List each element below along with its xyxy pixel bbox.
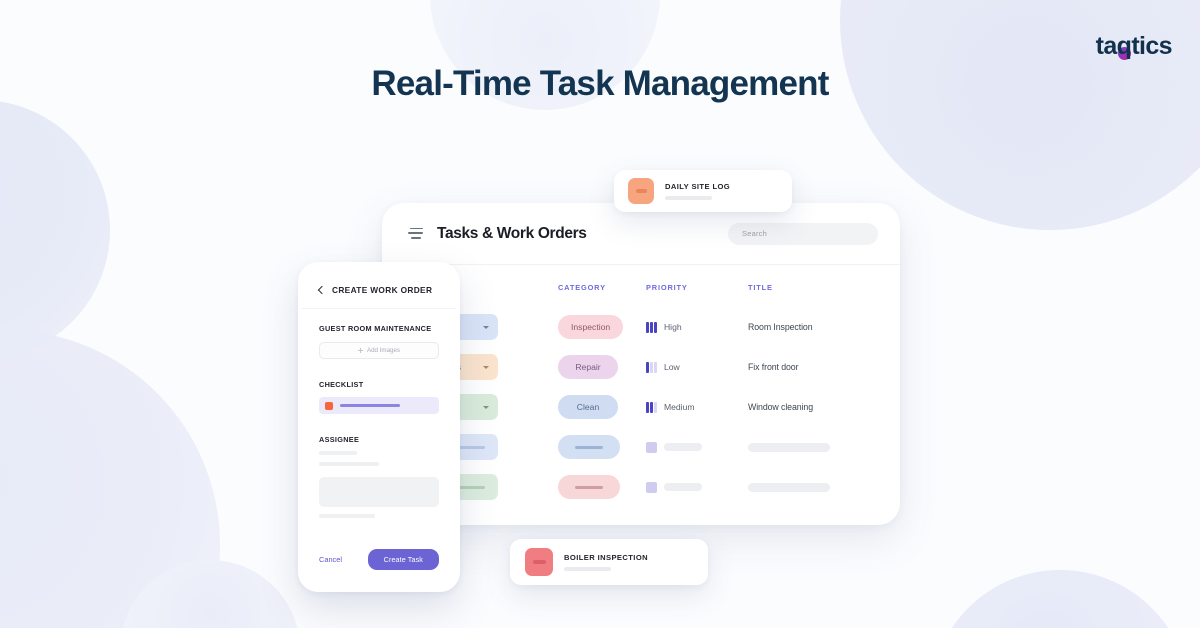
cancel-button[interactable]: Cancel — [319, 555, 342, 564]
assignee-placeholder-line — [319, 462, 379, 466]
category-cell: Repair — [534, 355, 638, 379]
toast-content: BOILER INSPECTION — [564, 553, 648, 571]
search-input[interactable]: Search — [728, 223, 878, 245]
task-title: Room Inspection — [742, 322, 878, 332]
column-header-title: TITLE — [742, 283, 878, 292]
task-title: Window cleaning — [742, 402, 878, 412]
priority-cell-placeholder — [638, 482, 742, 493]
work-order-name-label: GUEST ROOM MAINTENANCE — [319, 324, 439, 333]
logo-prefix: ta — [1096, 32, 1117, 60]
logo-q-letter: q — [1117, 32, 1132, 60]
category-cell: Inspection — [534, 315, 638, 339]
assignee-section: ASSIGNEE — [319, 435, 439, 518]
chevron-down-icon[interactable] — [483, 406, 489, 409]
checklist-square-icon — [325, 402, 333, 410]
chevron-left-icon[interactable] — [318, 286, 326, 294]
search-placeholder: Search — [742, 229, 767, 238]
task-title-placeholder — [742, 483, 878, 492]
priority-label: High — [664, 322, 682, 332]
decorative-circle-top-left — [0, 100, 110, 360]
priority-cell: Low — [638, 362, 742, 373]
task-title: Fix front door — [742, 362, 878, 372]
phone-form: GUEST ROOM MAINTENANCE Add Images CHECKL… — [302, 309, 456, 518]
checklist-item-placeholder — [340, 404, 400, 407]
toast-content: DAILY SITE LOG — [665, 182, 730, 200]
checklist-label: CHECKLIST — [319, 380, 439, 389]
priority-bars-icon — [646, 402, 657, 413]
taqtics-logo: taqtics — [1096, 34, 1172, 59]
table-row-placeholder — [404, 427, 878, 467]
priority-label: Medium — [664, 402, 695, 412]
logo-q-mark: q — [1117, 34, 1132, 59]
chevron-down-icon[interactable] — [483, 366, 489, 369]
toast-title: BOILER INSPECTION — [564, 553, 648, 562]
phone-screen-title: CREATE WORK ORDER — [332, 285, 432, 295]
column-header-priority: PRIORITY — [638, 283, 742, 292]
phone-header: CREATE WORK ORDER — [302, 266, 456, 309]
priority-cell: High — [638, 322, 742, 333]
document-tile-icon — [628, 178, 654, 204]
checklist-section: CHECKLIST — [319, 380, 439, 414]
table-row[interactable]: Competed Clean Medium Window cleaning — [404, 387, 878, 427]
category-badge: Repair — [558, 355, 618, 379]
checklist-item[interactable] — [319, 397, 439, 414]
phone-screen: CREATE WORK ORDER GUEST ROOM MAINTENANCE… — [302, 266, 456, 588]
document-tile-icon — [525, 548, 553, 576]
priority-bars-icon — [646, 362, 657, 373]
table-row-placeholder — [404, 467, 878, 507]
table-row[interactable]: In progress Repair Low Fix front door — [404, 347, 878, 387]
page-title: Real-Time Task Management — [0, 64, 1200, 104]
add-images-button[interactable]: Add Images — [319, 342, 439, 359]
assignee-input-placeholder[interactable] — [319, 477, 439, 507]
table-row[interactable]: Open Inspection High Room Inspection — [404, 307, 878, 347]
create-task-button[interactable]: Create Task — [368, 549, 439, 570]
category-cell-placeholder — [534, 475, 638, 499]
priority-cell: Medium — [638, 402, 742, 413]
promo-banner: taqtics Real-Time Task Management Tasks … — [0, 0, 1200, 628]
dashboard-title: Tasks & Work Orders — [437, 225, 587, 243]
toast-subtitle-placeholder — [564, 567, 611, 571]
phone-footer-actions: Cancel Create Task — [302, 549, 456, 570]
category-badge: Inspection — [558, 315, 623, 339]
dashboard-header: Tasks & Work Orders Search — [382, 203, 900, 265]
column-header-category: CATEGORY — [534, 283, 638, 292]
logo-suffix: tics — [1131, 32, 1172, 60]
toast-daily-site-log[interactable]: DAILY SITE LOG — [614, 170, 792, 212]
assignee-placeholder-line — [319, 514, 375, 518]
assignee-placeholder-line — [319, 451, 357, 455]
decorative-circle-bottom-right — [930, 570, 1190, 628]
filter-sliders-icon[interactable] — [408, 228, 423, 240]
category-cell-placeholder — [534, 435, 638, 459]
plus-icon — [358, 348, 363, 353]
toast-subtitle-placeholder — [665, 196, 712, 200]
category-cell: Clean — [534, 395, 638, 419]
create-work-order-phone: CREATE WORK ORDER GUEST ROOM MAINTENANCE… — [298, 262, 460, 592]
toast-title: DAILY SITE LOG — [665, 182, 730, 191]
priority-cell-placeholder — [638, 442, 742, 453]
table-header-row: STATUS CATEGORY PRIORITY TITLE — [404, 283, 878, 292]
task-title-placeholder — [742, 443, 878, 452]
add-images-label: Add Images — [367, 347, 400, 354]
priority-label: Low — [664, 362, 680, 372]
category-badge: Clean — [558, 395, 618, 419]
priority-bars-icon — [646, 322, 657, 333]
chevron-down-icon[interactable] — [483, 326, 489, 329]
assignee-label: ASSIGNEE — [319, 435, 439, 444]
toast-boiler-inspection[interactable]: BOILER INSPECTION — [510, 539, 708, 585]
